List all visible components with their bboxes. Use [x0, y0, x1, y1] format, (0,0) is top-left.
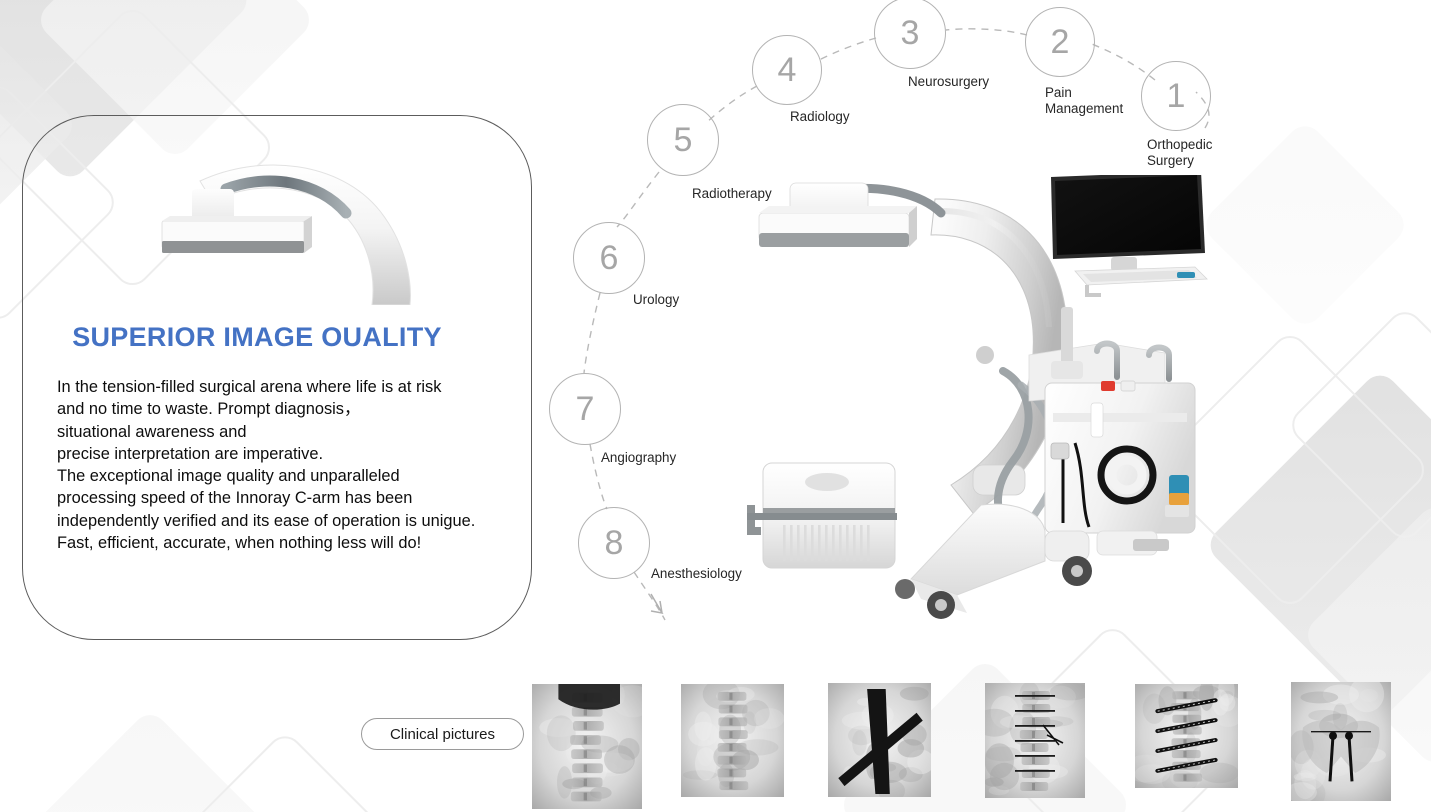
c-arm-machine-image	[745, 175, 1215, 635]
application-label: Urology	[633, 292, 679, 308]
application-label: Orthopedic Surgery	[1147, 137, 1213, 169]
xray-lateral-screws	[1135, 684, 1238, 788]
application-label: Pain Management	[1045, 85, 1123, 117]
application-label: Anesthesiology	[651, 566, 742, 582]
xray-pelvis-ap	[1291, 682, 1391, 801]
panel-body-line: The exceptional image quality and unpara…	[57, 465, 512, 487]
panel-body-line: precise interpretation are imperative.	[57, 443, 512, 465]
application-number-circle[interactable]: 6	[573, 222, 645, 294]
panel-body-line: and no time to waste. Prompt diagnosis，	[57, 398, 512, 420]
panel-body-line: situational awareness and	[57, 421, 512, 443]
application-label: Angiography	[601, 450, 676, 466]
bg-diamond	[1199, 119, 1411, 331]
application-number-circle[interactable]: 7	[549, 373, 621, 445]
application-number-circle[interactable]: 1	[1141, 61, 1211, 131]
page-title: SUPERIOR IMAGE OUALITY	[22, 322, 492, 353]
panel-body-line: In the tension-filled surgical arena whe…	[57, 376, 512, 398]
slide-canvas: 1Orthopedic Surgery2Pain Management3Neur…	[0, 0, 1431, 812]
xray-lumbar-spine-ap	[681, 684, 784, 797]
xray-lumbar-fixation	[985, 683, 1085, 798]
application-label: Radiotherapy	[692, 186, 772, 202]
xray-instruments-hip	[828, 683, 931, 797]
clinical-pictures-label: Clinical pictures	[361, 718, 524, 750]
panel-body-line: independently verified and its ease of o…	[57, 510, 512, 532]
panel-body-line: processing speed of the Innoray C-arm ha…	[57, 487, 512, 509]
application-number-circle[interactable]: 8	[578, 507, 650, 579]
c-arm-illustration-icon	[140, 155, 430, 305]
application-number-circle[interactable]: 2	[1025, 7, 1095, 77]
application-number-circle[interactable]: 4	[752, 35, 822, 105]
application-number-circle[interactable]: 5	[647, 104, 719, 176]
application-number-circle[interactable]: 3	[874, 0, 946, 69]
application-label: Neurosurgery	[908, 74, 989, 90]
panel-body-text: In the tension-filled surgical arena whe…	[57, 376, 512, 554]
panel-body-line: Fast, efficient, accurate, when nothing …	[57, 532, 512, 554]
xray-cervical-spine-ap	[532, 684, 642, 809]
application-label: Radiology	[790, 109, 850, 125]
